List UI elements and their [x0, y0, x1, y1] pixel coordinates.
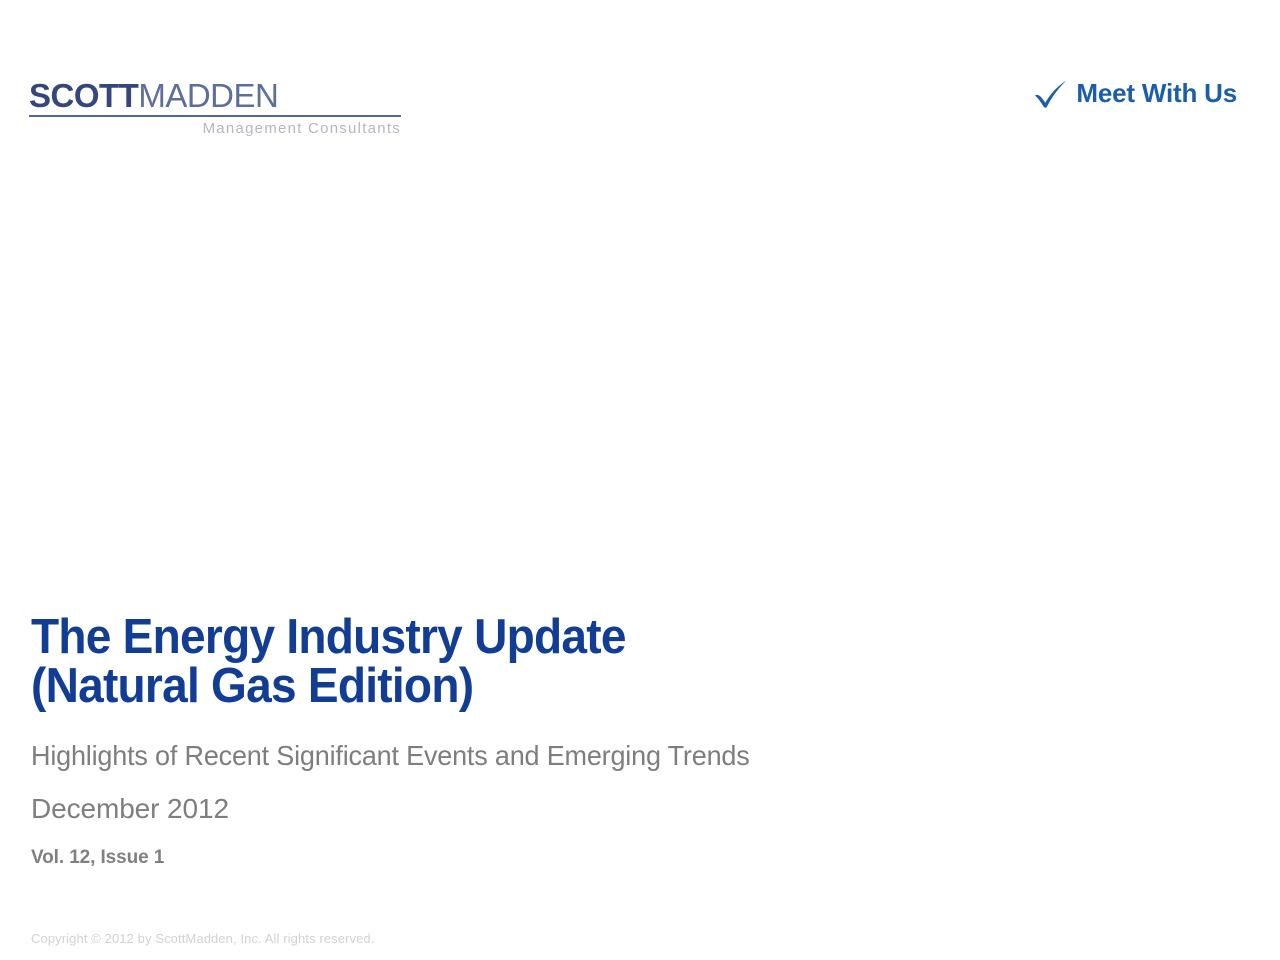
meet-with-us-label: Meet With Us — [1076, 78, 1237, 109]
slide-canvas: { "brand": { "logo": { "name_primary": "… — [0, 0, 1280, 960]
page-title-line-2: (Natural Gas Edition) — [31, 662, 1065, 711]
logo-wordmark: ScottMadden — [29, 69, 401, 114]
publication-date: December 2012 — [31, 793, 1131, 825]
meet-with-us-cta[interactable]: Meet With Us — [1033, 78, 1237, 109]
logo-name-primary: Scott — [29, 64, 138, 117]
volume-issue-label: Vol. 12, Issue 1 — [31, 847, 1131, 869]
page-subtitle: Highlights of Recent Significant Events … — [31, 740, 1093, 772]
title-block: The Energy Industry Update (Natural Gas … — [31, 613, 1131, 869]
logo-name-secondary: Madden — [138, 64, 278, 117]
copyright-notice: Copyright © 2012 by ScottMadden, Inc. Al… — [31, 931, 374, 946]
page-title: The Energy Industry Update (Natural Gas … — [31, 613, 1131, 711]
check-mark-icon — [1033, 79, 1069, 109]
logo-tagline: Management Consultants — [29, 120, 401, 137]
page-title-line-1: The Energy Industry Update — [31, 613, 1065, 662]
company-logo: ScottMadden Management Consultants — [29, 69, 401, 137]
